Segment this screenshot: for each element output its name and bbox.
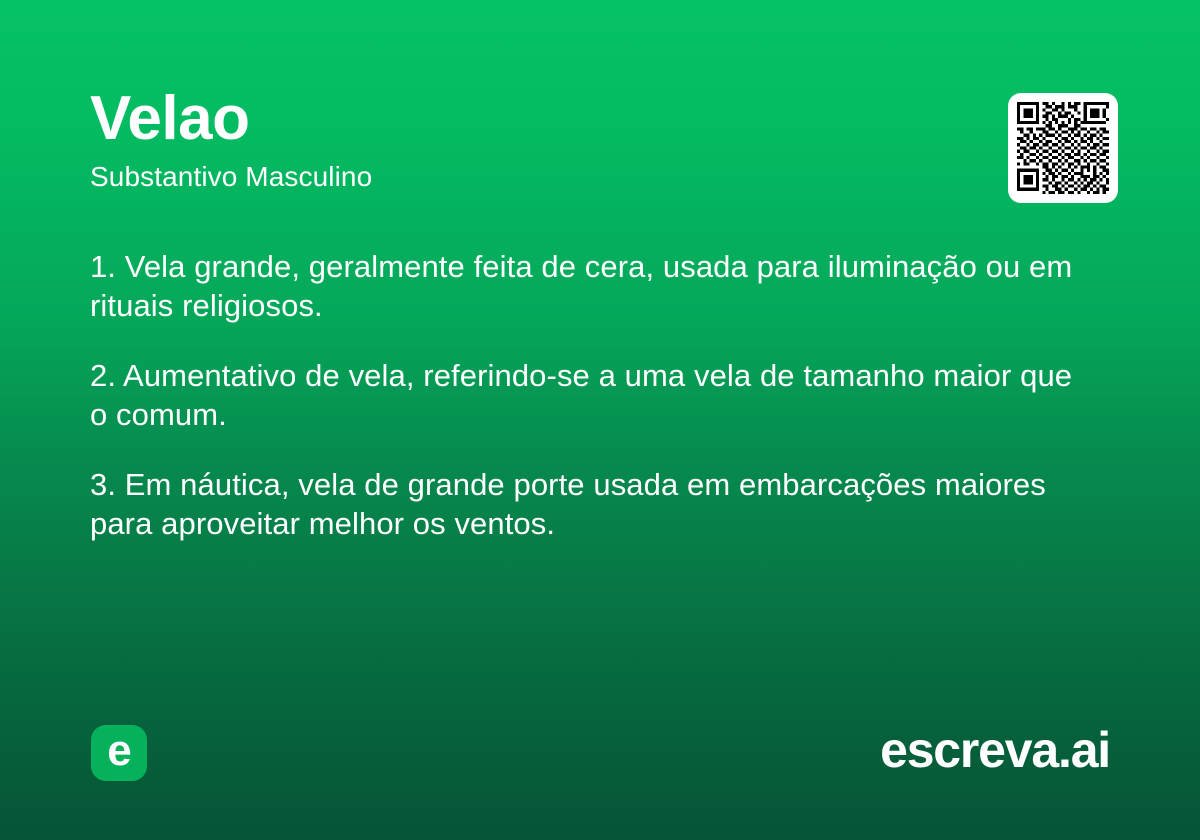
escreva-e-logo-icon: e — [91, 725, 147, 781]
page-title: Velao — [90, 84, 1110, 154]
word-class-label: Substantivo Masculino — [90, 154, 1110, 194]
qr-code-icon[interactable] — [1008, 93, 1118, 203]
definition-item-3: 3. Em náutica, vela de grande porte usad… — [90, 465, 1075, 543]
logo-letter: e — [107, 729, 130, 773]
card-header: Velao Substantivo Masculino — [90, 84, 1110, 194]
definition-item-2: 2. Aumentativo de vela, referindo-se a u… — [90, 356, 1075, 434]
brand-wordmark: escreva.ai — [880, 719, 1110, 781]
definition-item-1: 1. Vela grande, geralmente feita de cera… — [90, 247, 1075, 325]
definition-list: 1. Vela grande, geralmente feita de cera… — [90, 247, 1075, 543]
qr-code-matrix — [1017, 102, 1109, 194]
definition-card: Velao Substantivo Masculino 1. Vela gran… — [0, 0, 1200, 840]
